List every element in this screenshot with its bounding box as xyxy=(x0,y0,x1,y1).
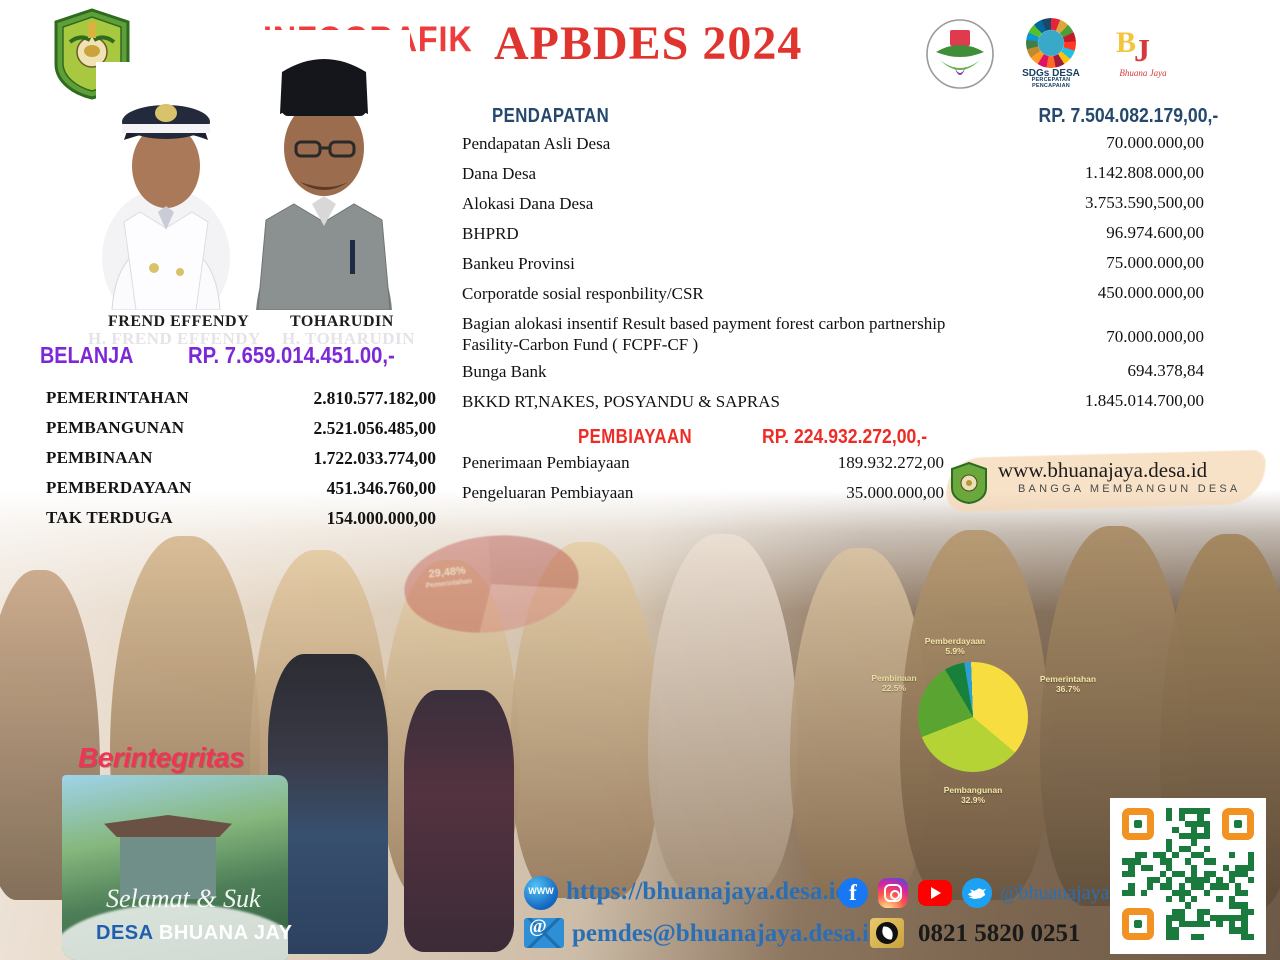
belanja-row-label: PEMBERDAYAAN xyxy=(46,478,192,498)
pendapatan-row-value: 1.845.014.700,00 xyxy=(1085,391,1204,411)
qr-finder-top-right xyxy=(1222,808,1254,840)
bj-caption: Bhuana Jaya xyxy=(1110,68,1176,78)
hut-roof-shape xyxy=(104,815,232,837)
pembiayaan-row: Pengeluaran Pembiayaan35.000.000,00 xyxy=(462,483,944,513)
watermark-percent: 29,48% xyxy=(428,565,466,581)
qr-module xyxy=(1248,909,1254,915)
pendapatan-row-label: Alokasi Dana Desa xyxy=(462,193,982,214)
qr-code-image[interactable] xyxy=(1122,808,1254,940)
pembiayaan-row-value: 35.000.000,00 xyxy=(846,483,944,503)
belanja-pie-chart xyxy=(918,662,1028,772)
pembiayaan-row-label: Penerimaan Pembiayaan xyxy=(462,453,630,473)
contact-row-website: WWW https://bhuanajaya.desa.id f @bhuana… xyxy=(524,872,1124,914)
website-watermark-banner: www.bhuanajaya.desa.id BANGGA MEMBANGUN … xyxy=(946,452,1272,514)
qr-module xyxy=(1166,896,1172,902)
pie-label-value-3: 5.9% xyxy=(945,646,964,656)
pembiayaan-table: Penerimaan Pembiayaan189.932.272,00Penge… xyxy=(462,453,944,513)
belanja-row: PEMBINAAN1.722.033.774,00 xyxy=(46,448,436,478)
official-photo-left xyxy=(96,62,236,310)
contact-bar: WWW https://bhuanajaya.desa.id f @bhuana… xyxy=(524,872,1124,960)
qr-module xyxy=(1229,852,1235,858)
tp-pkk-logo-icon xyxy=(924,18,996,90)
village-name: BHUANA JAY xyxy=(159,922,293,944)
instagram-icon[interactable] xyxy=(878,878,908,908)
qr-module xyxy=(1216,896,1222,902)
qr-module xyxy=(1128,871,1134,877)
pendapatan-row-value: 3.753.590,500,00 xyxy=(1085,193,1204,213)
pendapatan-row-value: 96.974.600,00 xyxy=(1106,223,1204,243)
belanja-row: PEMBERDAYAAN451.346.760,00 xyxy=(46,478,436,508)
bj-letter-b: B xyxy=(1116,26,1136,60)
pendapatan-row: Bunga Bank694.378,84 xyxy=(462,361,1204,391)
pendapatan-row-label: Pendapatan Asli Desa xyxy=(462,133,982,154)
qr-module xyxy=(1141,890,1147,896)
pembiayaan-row: Penerimaan Pembiayaan189.932.272,00 xyxy=(462,453,944,483)
pendapatan-row-value: 450.000.000,00 xyxy=(1098,283,1204,303)
pembiayaan-heading: PEMBIAYAAN xyxy=(578,426,692,449)
official-photo-right xyxy=(238,30,410,310)
qr-module xyxy=(1197,934,1203,940)
watermark-tagline: BANGGA MEMBANGUN DESA xyxy=(1018,483,1240,495)
qr-module xyxy=(1204,890,1210,896)
sdgs-subtitle: PERCEPATAN PENCAPAIAN xyxy=(1012,77,1090,89)
desa-bhuana-jaya-label: DESA BHUANA JAY xyxy=(96,922,292,945)
pie-label-name-3: Pemberdayaan xyxy=(925,636,985,646)
pembiayaan-row-label: Pengeluaran Pembiayaan xyxy=(462,483,633,503)
belanja-row-value: 451.346.760,00 xyxy=(327,478,436,499)
pie-label-pemberdayaan: Pemberdayaan 5.9% xyxy=(906,636,1004,656)
belanja-row-value: 154.000.000,00 xyxy=(327,508,436,529)
pie-label-pemerintahan: Pemerintahan 36.7% xyxy=(1022,674,1114,694)
twitter-icon[interactable] xyxy=(962,878,992,908)
qr-module xyxy=(1191,896,1197,902)
pendapatan-row-value: 694.378,84 xyxy=(1128,361,1205,381)
pendapatan-row: Dana Desa1.142.808.000,00 xyxy=(462,163,1204,193)
qr-module xyxy=(1147,865,1153,871)
pendapatan-row-label: Bankeu Provinsi xyxy=(462,253,982,274)
qr-module xyxy=(1204,833,1210,839)
belanja-row: PEMBANGUNAN2.521.056.485,00 xyxy=(46,418,436,448)
pendapatan-row-label: BKKD RT,NAKES, POSYANDU & SAPRAS xyxy=(462,391,982,412)
pendapatan-row-label: Bagian alokasi insentif Result based pay… xyxy=(462,313,982,355)
facebook-icon[interactable]: f xyxy=(838,878,868,908)
pembiayaan-total: RP. 224.932.272,00,- xyxy=(762,426,927,449)
pie-label-value-1: 32.9% xyxy=(961,795,985,805)
qr-module xyxy=(1204,808,1210,814)
globe-icon: WWW xyxy=(524,876,558,910)
qr-module xyxy=(1204,846,1210,852)
social-handle[interactable]: @bhuanajaya xyxy=(1000,882,1109,905)
pendapatan-row-label: Dana Desa xyxy=(462,163,982,184)
pendapatan-row: Alokasi Dana Desa3.753.590,500,00 xyxy=(462,193,1204,223)
belanja-row: TAK TERDUGA154.000.000,00 xyxy=(46,508,436,538)
sdgs-desa-logo-icon: SDGs DESA PERCEPATAN PENCAPAIAN xyxy=(1012,18,1090,84)
pendapatan-row: Bagian alokasi insentif Result based pay… xyxy=(462,313,1204,361)
qr-module xyxy=(1147,883,1153,889)
belanja-row-label: PEMBANGUNAN xyxy=(46,418,184,438)
watermark-url: www.bhuanajaya.desa.id xyxy=(998,458,1207,483)
contact-row-email: @ pemdes@bhuanajaya.desa.id 0821 5820 02… xyxy=(524,914,1124,956)
official-name-right: TOHARUDIN xyxy=(290,313,394,331)
qr-module xyxy=(1172,852,1178,858)
desa-word: DESA xyxy=(96,922,159,944)
pendapatan-row: BHPRD96.974.600,00 xyxy=(462,223,1204,253)
pie-label-pembangunan: Pembangunan 32.9% xyxy=(918,785,1028,805)
phone-number: 0821 5820 0251 xyxy=(918,920,1081,948)
village-seal-icon xyxy=(950,462,988,504)
website-link[interactable]: https://bhuanajaya.desa.id xyxy=(566,878,849,906)
belanja-row-value: 2.810.577.182,00 xyxy=(314,388,437,409)
pendapatan-row-value: 70.000.000,00 xyxy=(1106,133,1204,153)
pie-label-name-2: Pembinaan xyxy=(871,673,916,683)
qr-module xyxy=(1248,877,1254,883)
email-address[interactable]: pemdes@bhuanajaya.desa.id xyxy=(572,920,883,948)
pie-label-pembinaan: Pembinaan 22.5% xyxy=(856,673,932,693)
officials-names: H. FREND EFFENDY H. TOHARUDIN FREND EFFE… xyxy=(60,313,440,335)
bhuana-jaya-logo-icon: B J Bhuana Jaya xyxy=(1110,26,1176,84)
belanja-table: PEMERINTAHAN2.810.577.182,00PEMBANGUNAN2… xyxy=(46,388,436,538)
belanja-total: RP. 7.659.014.451.00,- xyxy=(188,342,395,369)
pendapatan-row-value: 75.000.000,00 xyxy=(1106,253,1204,273)
pendapatan-row: Bankeu Provinsi75.000.000,00 xyxy=(462,253,1204,283)
qr-module xyxy=(1216,921,1222,927)
phone-icon xyxy=(870,918,904,948)
belanja-row-label: PEMBINAAN xyxy=(46,448,153,468)
pie-label-value-0: 36.7% xyxy=(1056,684,1080,694)
pembiayaan-row-value: 189.932.272,00 xyxy=(838,453,944,473)
pendapatan-row: Corporatde sosial responbility/CSR450.00… xyxy=(462,283,1204,313)
qr-module xyxy=(1191,839,1197,845)
qr-module xyxy=(1172,934,1178,940)
belanja-row-value: 2.521.056.485,00 xyxy=(314,418,437,439)
sdgs-center xyxy=(1038,30,1064,56)
bj-letter-j: J xyxy=(1134,32,1150,69)
qr-module xyxy=(1204,921,1210,927)
qr-finder-bottom-left xyxy=(1122,908,1154,940)
pendapatan-total: RP. 7.504.082.179,00,- xyxy=(1038,105,1218,128)
globe-icon-label: WWW xyxy=(524,886,558,896)
selamat-script-text: Selamat & Suk xyxy=(106,884,261,914)
qr-module xyxy=(1248,934,1254,940)
pendapatan-row-value: 70.000.000,00 xyxy=(1106,327,1204,347)
qr-code-card[interactable] xyxy=(1110,798,1266,954)
pie-label-value-2: 22.5% xyxy=(882,683,906,693)
pendapatan-heading: PENDAPATAN xyxy=(492,105,609,128)
pendapatan-row: Pendapatan Asli Desa70.000.000,00 xyxy=(462,133,1204,163)
pendapatan-row-label: BHPRD xyxy=(462,223,982,244)
pie-label-name-0: Pemerintahan xyxy=(1040,674,1096,684)
page-title: APBDES 2024 xyxy=(494,16,802,71)
infographic-poster: 29,48% Pemerintahan INFOGRAFIK APBDES 20… xyxy=(0,0,1280,960)
belanja-row-label: PEMERINTAHAN xyxy=(46,388,189,408)
pie-label-name-1: Pembangunan xyxy=(944,785,1003,795)
youtube-icon[interactable] xyxy=(918,880,952,906)
pendapatan-row-label: Corporatde sosial responbility/CSR xyxy=(462,283,982,304)
pendapatan-row-value: 1.142.808.000,00 xyxy=(1085,163,1204,183)
qr-module xyxy=(1166,814,1172,820)
belanja-row-value: 1.722.033.774,00 xyxy=(314,448,437,469)
pendapatan-table: Pendapatan Asli Desa70.000.000,00Dana De… xyxy=(462,133,1204,421)
pendapatan-row: BKKD RT,NAKES, POSYANDU & SAPRAS1.845.01… xyxy=(462,391,1204,421)
qr-module xyxy=(1210,858,1216,864)
pendapatan-row-label: Bunga Bank xyxy=(462,361,982,382)
qr-module xyxy=(1223,883,1229,889)
belanja-row: PEMERINTAHAN2.810.577.182,00 xyxy=(46,388,436,418)
qr-module xyxy=(1141,852,1147,858)
official-name-left: FREND EFFENDY xyxy=(108,313,249,331)
qr-finder-top-left xyxy=(1122,808,1154,840)
qr-module xyxy=(1185,902,1191,908)
belanja-heading: BELANJA xyxy=(40,342,133,369)
belanja-row-label: TAK TERDUGA xyxy=(46,508,173,528)
qr-module xyxy=(1241,890,1247,896)
qr-module xyxy=(1248,865,1254,871)
qr-module xyxy=(1128,890,1134,896)
pie-slices xyxy=(918,662,1028,772)
berintegritas-label: Berintegritas xyxy=(78,742,244,774)
email-icon: @ xyxy=(524,918,564,948)
